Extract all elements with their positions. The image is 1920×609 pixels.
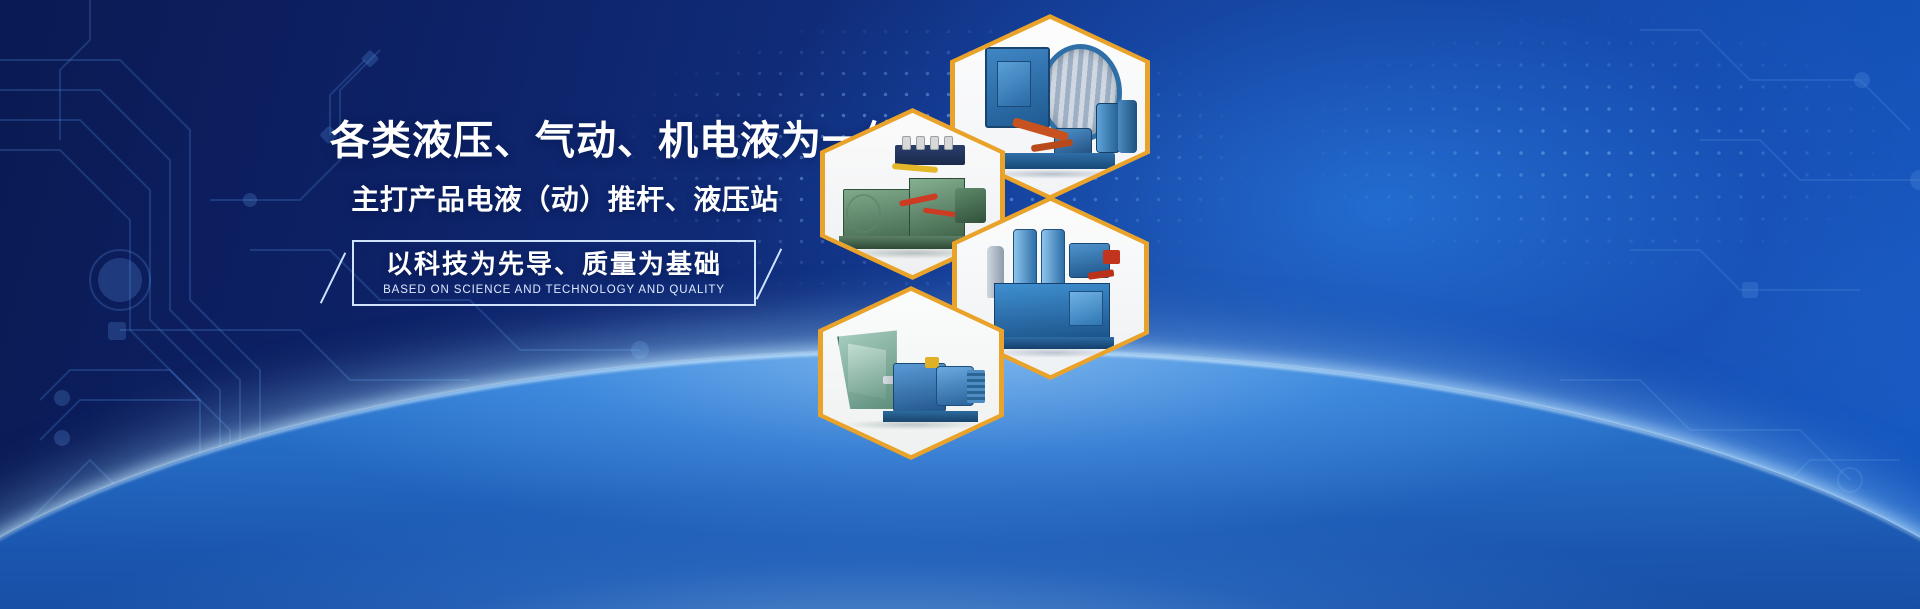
dot-matrix-decoration-right <box>1180 10 1920 310</box>
banner-headline: 各类液压、气动、机电液为一体 <box>330 118 800 164</box>
banner-subheadline: 主打产品电液（动）推杆、液压站 <box>330 178 800 218</box>
hero-banner: 各类液压、气动、机电液为一体 主打产品电液（动）推杆、液压站 以科技为先导、质量… <box>0 0 1920 609</box>
slogan-box: 以科技为先导、质量为基础 BASED ON SCIENCE AND TECHNO… <box>352 240 756 306</box>
slogan-english: BASED ON SCIENCE AND TECHNOLOGY AND QUAL… <box>383 284 725 296</box>
banner-text-block: 各类液压、气动、机电液为一体 主打产品电液（动）推杆、液压站 以科技为先导、质量… <box>330 118 800 310</box>
slogan-chinese: 以科技为先导、质量为基础 <box>386 250 722 279</box>
hexagon-product-gallery <box>780 0 1200 609</box>
slogan-left-slash-decoration <box>320 252 346 303</box>
slogan-right-slash-decoration <box>756 248 782 299</box>
slogan-container: 以科技为先导、质量为基础 BASED ON SCIENCE AND TECHNO… <box>330 240 800 310</box>
